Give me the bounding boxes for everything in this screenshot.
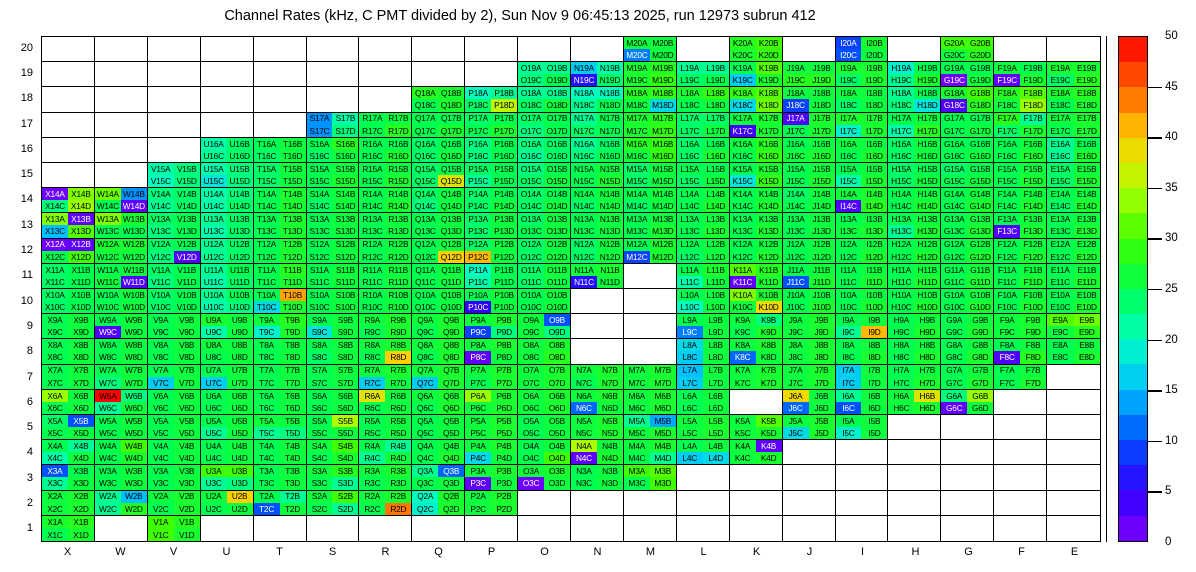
channel-I9B[interactable]: I9B [861, 314, 887, 326]
heatmap-cell-X10[interactable]: X10AX10BX10CX10D [42, 289, 95, 314]
heatmap-cell-O8[interactable]: O8AO8BO8CO8D [518, 339, 571, 364]
channel-R9B[interactable]: R9B [385, 314, 411, 326]
channel-V14A[interactable]: V14A [148, 188, 174, 200]
channel-T11C[interactable]: T11C [254, 276, 280, 288]
channel-I8C[interactable]: I8C [836, 351, 862, 363]
channel-F7D[interactable]: F7D [1020, 377, 1046, 389]
channel-G16D[interactable]: G16D [967, 150, 993, 162]
heatmap-cell-M11[interactable] [624, 264, 677, 289]
channel-H16D[interactable]: H16D [914, 150, 940, 162]
channel-P6D[interactable]: P6D [491, 402, 517, 414]
channel-G9C[interactable]: G9C [941, 326, 967, 338]
channel-R14A[interactable]: R14A [359, 188, 385, 200]
channel-R10B[interactable]: R10B [385, 289, 411, 301]
channel-O14D[interactable]: O14D [544, 200, 570, 212]
channel-M4A[interactable]: M4A [624, 440, 650, 452]
heatmap-cell-Q8[interactable]: Q8AQ8BQ8CQ8D [412, 339, 465, 364]
channel-H11A[interactable]: H11A [888, 264, 914, 276]
channel-W8D[interactable]: W8D [121, 351, 147, 363]
channel-K7A[interactable]: K7A [730, 365, 756, 377]
heatmap-cell-T1[interactable] [254, 516, 307, 541]
heatmap-cell-I14[interactable]: I14AI14BI14CI14D [836, 188, 889, 213]
channel-R15A[interactable]: R15A [359, 163, 385, 175]
channel-J6C[interactable]: J6C [783, 402, 809, 414]
channel-E10B[interactable]: E10B [1074, 289, 1100, 301]
channel-X4A[interactable]: X4A [42, 440, 68, 452]
channel-V5A[interactable]: V5A [148, 415, 174, 427]
channel-R13C[interactable]: R13C [359, 225, 385, 237]
channel-K19D[interactable]: K19D [756, 74, 782, 86]
heatmap-cell-W7[interactable]: W7AW7BW7CW7D [95, 365, 148, 390]
channel-H7A[interactable]: H7A [888, 365, 914, 377]
heatmap-cell-X18[interactable] [42, 87, 95, 112]
channel-I9D[interactable]: I9D [861, 326, 887, 338]
channel-I12B[interactable]: I12B [861, 239, 887, 251]
channel-J5B[interactable]: J5B [809, 415, 835, 427]
heatmap-cell-N11[interactable]: N11AN11BN11CN11D [571, 264, 624, 289]
channel-W6C[interactable]: W6C [95, 402, 121, 414]
channel-G15C[interactable]: G15C [941, 175, 967, 187]
channel-H9A[interactable]: H9A [888, 314, 914, 326]
channel-M5B[interactable]: M5B [650, 415, 676, 427]
channel-Q3D[interactable]: Q3D [438, 477, 464, 489]
heatmap-cell-W1[interactable] [95, 516, 148, 541]
heatmap-cell-W16[interactable] [95, 138, 148, 163]
channel-M3D[interactable]: M3D [650, 477, 676, 489]
channel-V6B[interactable]: V6B [174, 390, 200, 402]
heatmap-cell-S9[interactable]: S9AS9BS9CS9D [307, 314, 360, 339]
channel-S3A[interactable]: S3A [307, 465, 333, 477]
heatmap-cell-H7[interactable]: H7AH7BH7CH7D [888, 365, 941, 390]
channel-J9A[interactable]: J9A [783, 314, 809, 326]
channel-U5C[interactable]: U5C [201, 427, 227, 439]
heatmap-cell-W15[interactable] [95, 163, 148, 188]
channel-X2D[interactable]: X2D [68, 503, 94, 515]
channel-U13B[interactable]: U13B [227, 213, 253, 225]
channel-L11D[interactable]: L11D [703, 276, 729, 288]
heatmap-cell-X8[interactable]: X8AX8BX8CX8D [42, 339, 95, 364]
channel-U5D[interactable]: U5D [227, 427, 253, 439]
channel-R17D[interactable]: R17D [385, 125, 411, 137]
channel-Q8D[interactable]: Q8D [438, 351, 464, 363]
channel-O11D[interactable]: O11D [544, 276, 570, 288]
channel-T14D[interactable]: T14D [280, 200, 306, 212]
channel-X6C[interactable]: X6C [42, 402, 68, 414]
channel-V10C[interactable]: V10C [148, 301, 174, 313]
channel-R15B[interactable]: R15B [385, 163, 411, 175]
channel-S13D[interactable]: S13D [332, 225, 358, 237]
channel-I16D[interactable]: I16D [861, 150, 887, 162]
channel-U14B[interactable]: U14B [227, 188, 253, 200]
channel-V13A[interactable]: V13A [148, 213, 174, 225]
heatmap-cell-M4[interactable]: M4AM4BM4CM4D [624, 440, 677, 465]
heatmap-cell-W14[interactable]: W14AW14BW14CW14D [95, 188, 148, 213]
channel-L9C[interactable]: L9C [677, 326, 703, 338]
channel-E11C[interactable]: E11C [1047, 276, 1073, 288]
heatmap-cell-F5[interactable] [994, 415, 1047, 440]
heatmap-cell-K18[interactable]: K18AK18BK18CK18D [730, 87, 783, 112]
channel-U6C[interactable]: U6C [201, 402, 227, 414]
channel-G8C[interactable]: G8C [941, 351, 967, 363]
heatmap-cell-G6[interactable]: G6AG6BG6CG6D [941, 390, 994, 415]
heatmap-cell-Q3[interactable]: Q3AQ3BQ3CQ3D [412, 465, 465, 490]
channel-P3D[interactable]: P3D [491, 477, 517, 489]
heatmap-cell-H12[interactable]: H12AH12BH12CH12D [888, 239, 941, 264]
channel-L4A[interactable]: L4A [677, 440, 703, 452]
channel-M17D[interactable]: M17D [650, 125, 676, 137]
channel-N12D[interactable]: N12D [597, 251, 623, 263]
heatmap-cell-I4[interactable] [836, 440, 889, 465]
channel-V3B[interactable]: V3B [174, 465, 200, 477]
channel-O13D[interactable]: O13D [544, 225, 570, 237]
channel-H13B[interactable]: H13B [914, 213, 940, 225]
channel-U8B[interactable]: U8B [227, 339, 253, 351]
channel-X12C[interactable]: X12C [42, 251, 68, 263]
heatmap-cell-O18[interactable]: O18AO18BO18CO18D [518, 87, 571, 112]
channel-M12D[interactable]: M12D [650, 251, 676, 263]
channel-Q17C[interactable]: Q17C [412, 125, 438, 137]
channel-F15C[interactable]: F15C [994, 175, 1020, 187]
channel-H14B[interactable]: H14B [914, 188, 940, 200]
channel-Q5D[interactable]: Q5D [438, 427, 464, 439]
heatmap-cell-H11[interactable]: H11AH11BH11CH11D [888, 264, 941, 289]
channel-L13C[interactable]: L13C [677, 225, 703, 237]
channel-T8B[interactable]: T8B [280, 339, 306, 351]
channel-E11B[interactable]: E11B [1074, 264, 1100, 276]
heatmap-cell-T16[interactable]: T16AT16BT16CT16D [254, 138, 307, 163]
channel-R8D[interactable]: R8D [385, 351, 411, 363]
channel-V2D[interactable]: V2D [174, 503, 200, 515]
channel-Q15B[interactable]: Q15B [438, 163, 464, 175]
channel-H18C[interactable]: H18C [888, 99, 914, 111]
channel-W10B[interactable]: W10B [121, 289, 147, 301]
channel-K17B[interactable]: K17B [756, 113, 782, 125]
channel-X8D[interactable]: X8D [68, 351, 94, 363]
channel-P11B[interactable]: P11B [491, 264, 517, 276]
channel-I14B[interactable]: I14B [861, 188, 887, 200]
channel-Q3B[interactable]: Q3B [438, 465, 464, 477]
channel-V4C[interactable]: V4C [148, 452, 174, 464]
channel-H15C[interactable]: H15C [888, 175, 914, 187]
channel-J5D[interactable]: J5D [809, 427, 835, 439]
channel-T15D[interactable]: T15D [280, 175, 306, 187]
channel-G7C[interactable]: G7C [941, 377, 967, 389]
channel-X13B[interactable]: X13B [68, 213, 94, 225]
channel-V8C[interactable]: V8C [148, 351, 174, 363]
channel-G8B[interactable]: G8B [967, 339, 993, 351]
heatmap-cell-S8[interactable]: S8AS8BS8CS8D [307, 339, 360, 364]
channel-L8C[interactable]: L8C [677, 351, 703, 363]
heatmap-cell-I7[interactable]: I7AI7BI7CI7D [836, 365, 889, 390]
channel-S6B[interactable]: S6B [332, 390, 358, 402]
channel-I20C[interactable]: I20C [836, 49, 862, 61]
channel-F14B[interactable]: F14B [1020, 188, 1046, 200]
channel-X11C[interactable]: X11C [42, 276, 68, 288]
channel-I9A[interactable]: I9A [836, 314, 862, 326]
channel-U12B[interactable]: U12B [227, 239, 253, 251]
channel-M7B[interactable]: M7B [650, 365, 676, 377]
channel-T13B[interactable]: T13B [280, 213, 306, 225]
channel-F9D[interactable]: F9D [1020, 326, 1046, 338]
heatmap-cell-K5[interactable]: K5AK5BK5CK5D [730, 415, 783, 440]
channel-P17B[interactable]: P17B [491, 113, 517, 125]
channel-K9C[interactable]: K9C [730, 326, 756, 338]
heatmap-cell-J11[interactable]: J11AJ11BJ11CJ11D [783, 264, 836, 289]
heatmap-cell-K3[interactable] [730, 465, 783, 490]
channel-T9C[interactable]: T9C [254, 326, 280, 338]
channel-F13D[interactable]: F13D [1020, 225, 1046, 237]
channel-X7C[interactable]: X7C [42, 377, 68, 389]
channel-X7A[interactable]: X7A [42, 365, 68, 377]
channel-P9A[interactable]: P9A [465, 314, 491, 326]
channel-P10B[interactable]: P10B [491, 289, 517, 301]
channel-F19B[interactable]: F19B [1020, 62, 1046, 74]
heatmap-cell-R20[interactable] [359, 37, 412, 62]
channel-P7A[interactable]: P7A [465, 365, 491, 377]
heatmap-cell-X13[interactable]: X13AX13BX13CX13D [42, 213, 95, 238]
channel-W9B[interactable]: W9B [121, 314, 147, 326]
channel-F9A[interactable]: F9A [994, 314, 1020, 326]
channel-G14A[interactable]: G14A [941, 188, 967, 200]
channel-P13D[interactable]: P13D [491, 225, 517, 237]
channel-N19B[interactable]: N19B [597, 62, 623, 74]
channel-V9A[interactable]: V9A [148, 314, 174, 326]
channel-K16A[interactable]: K16A [730, 138, 756, 150]
heatmap-cell-P16[interactable]: P16AP16BP16CP16D [465, 138, 518, 163]
heatmap-cell-I3[interactable] [836, 465, 889, 490]
channel-U5A[interactable]: U5A [201, 415, 227, 427]
channel-S9A[interactable]: S9A [307, 314, 333, 326]
channel-Q11B[interactable]: Q11B [438, 264, 464, 276]
channel-H8B[interactable]: H8B [914, 339, 940, 351]
channel-O5C[interactable]: O5C [518, 427, 544, 439]
heatmap-cell-S4[interactable]: S4AS4BS4CS4D [307, 440, 360, 465]
channel-E10A[interactable]: E10A [1047, 289, 1073, 301]
heatmap-cell-X9[interactable]: X9AX9BX9CX9D [42, 314, 95, 339]
channel-G14B[interactable]: G14B [967, 188, 993, 200]
channel-S11A[interactable]: S11A [307, 264, 333, 276]
channel-P14C[interactable]: P14C [465, 200, 491, 212]
channel-G19A[interactable]: G19A [941, 62, 967, 74]
channel-T12A[interactable]: T12A [254, 239, 280, 251]
heatmap-cell-Q19[interactable] [412, 62, 465, 87]
heatmap-cell-H19[interactable]: H19AH19BH19CH19D [888, 62, 941, 87]
heatmap-cell-N18[interactable]: N18AN18BN18CN18D [571, 87, 624, 112]
channel-R7D[interactable]: R7D [385, 377, 411, 389]
heatmap-cell-T4[interactable]: T4AT4BT4CT4D [254, 440, 307, 465]
channel-K9D[interactable]: K9D [756, 326, 782, 338]
channel-P4B[interactable]: P4B [491, 440, 517, 452]
channel-I10C[interactable]: I10C [836, 301, 862, 313]
heatmap-cell-X2[interactable]: X2AX2BX2CX2D [42, 491, 95, 516]
channel-O17A[interactable]: O17A [518, 113, 544, 125]
channel-M7D[interactable]: M7D [650, 377, 676, 389]
heatmap-cell-V10[interactable]: V10AV10BV10CV10D [148, 289, 201, 314]
heatmap-cell-L11[interactable]: L11AL11BL11CL11D [677, 264, 730, 289]
channel-W14D[interactable]: W14D [121, 200, 147, 212]
channel-W2A[interactable]: W2A [95, 491, 121, 503]
channel-F8B[interactable]: F8B [1020, 339, 1046, 351]
channel-M18A[interactable]: M18A [624, 87, 650, 99]
channel-P13C[interactable]: P13C [465, 225, 491, 237]
heatmap-cell-E3[interactable] [1047, 465, 1100, 490]
channel-M14A[interactable]: M14A [624, 188, 650, 200]
channel-S4C[interactable]: S4C [307, 452, 333, 464]
channel-Q13D[interactable]: Q13D [438, 225, 464, 237]
heatmap-cell-H6[interactable]: H6AH6BH6CH6D [888, 390, 941, 415]
heatmap-cell-N10[interactable] [571, 289, 624, 314]
channel-P3B[interactable]: P3B [491, 465, 517, 477]
heatmap-cell-P4[interactable]: P4AP4BP4CP4D [465, 440, 518, 465]
channel-R9D[interactable]: R9D [385, 326, 411, 338]
channel-S2A[interactable]: S2A [307, 491, 333, 503]
channel-R14C[interactable]: R14C [359, 200, 385, 212]
heatmap-cell-E8[interactable]: E8AE8BE8CE8D [1047, 339, 1100, 364]
channel-W10D[interactable]: W10D [121, 301, 147, 313]
heatmap-cell-S6[interactable]: S6AS6BS6CS6D [307, 390, 360, 415]
heatmap-cell-I8[interactable]: I8AI8BI8CI8D [836, 339, 889, 364]
heatmap-cell-E1[interactable] [1047, 516, 1100, 541]
channel-L18C[interactable]: L18C [677, 99, 703, 111]
channel-Q8A[interactable]: Q8A [412, 339, 438, 351]
channel-H19C[interactable]: H19C [888, 74, 914, 86]
heatmap-cell-R4[interactable]: R4AR4BR4CR4D [359, 440, 412, 465]
channel-X3A[interactable]: X3A [42, 465, 68, 477]
channel-H13A[interactable]: H13A [888, 213, 914, 225]
heatmap-cell-N7[interactable]: N7AN7BN7CN7D [571, 365, 624, 390]
channel-G10A[interactable]: G10A [941, 289, 967, 301]
heatmap-cell-M9[interactable] [624, 314, 677, 339]
channel-Q5C[interactable]: Q5C [412, 427, 438, 439]
channel-W4D[interactable]: W4D [121, 452, 147, 464]
channel-W12D[interactable]: W12D [121, 251, 147, 263]
channel-K13C[interactable]: K13C [730, 225, 756, 237]
heatmap-cell-I5[interactable]: I5AI5BI5CI5D [836, 415, 889, 440]
channel-H8A[interactable]: H8A [888, 339, 914, 351]
channel-O16A[interactable]: O16A [518, 138, 544, 150]
channel-G20A[interactable]: G20A [941, 37, 967, 49]
channel-I17C[interactable]: I17C [836, 125, 862, 137]
channel-G12B[interactable]: G12B [967, 239, 993, 251]
channel-I7A[interactable]: I7A [836, 365, 862, 377]
heatmap-cell-J20[interactable] [783, 37, 836, 62]
heatmap-cell-O19[interactable]: O19AO19BO19CO19D [518, 62, 571, 87]
channel-E16B[interactable]: E16B [1074, 138, 1100, 150]
heatmap-cell-E15[interactable]: E15AE15BE15CE15D [1047, 163, 1100, 188]
channel-F16A[interactable]: F16A [994, 138, 1020, 150]
channel-V1D[interactable]: V1D [174, 528, 200, 541]
channel-R5B[interactable]: R5B [385, 415, 411, 427]
channel-F11B[interactable]: F11B [1020, 264, 1046, 276]
channel-X7B[interactable]: X7B [68, 365, 94, 377]
channel-P16B[interactable]: P16B [491, 138, 517, 150]
channel-J15C[interactable]: J15C [783, 175, 809, 187]
channel-V14B[interactable]: V14B [174, 188, 200, 200]
channel-N14C[interactable]: N14C [571, 200, 597, 212]
channel-K4A[interactable]: K4A [730, 440, 756, 452]
channel-G19D[interactable]: G19D [967, 74, 993, 86]
channel-H7C[interactable]: H7C [888, 377, 914, 389]
channel-O4A[interactable]: O4A [518, 440, 544, 452]
channel-U14C[interactable]: U14C [201, 200, 227, 212]
channel-F9B[interactable]: F9B [1020, 314, 1046, 326]
channel-H17C[interactable]: H17C [888, 125, 914, 137]
channel-L15C[interactable]: L15C [677, 175, 703, 187]
heatmap-cell-H9[interactable]: H9AH9BH9CH9D [888, 314, 941, 339]
channel-X1A[interactable]: X1A [42, 516, 68, 529]
heatmap-cell-F8[interactable]: F8AF8BF8CF8D [994, 339, 1047, 364]
channel-K13B[interactable]: K13B [756, 213, 782, 225]
channel-E15D[interactable]: E15D [1074, 175, 1100, 187]
channel-R8A[interactable]: R8A [359, 339, 385, 351]
channel-O11B[interactable]: O11B [544, 264, 570, 276]
heatmap-cell-U9[interactable]: U9AU9BU9CU9D [201, 314, 254, 339]
channel-L15D[interactable]: L15D [703, 175, 729, 187]
channel-V13D[interactable]: V13D [174, 225, 200, 237]
heatmap-cell-O7[interactable]: O7AO7BO7CO7D [518, 365, 571, 390]
heatmap-cell-T6[interactable]: T6AT6BT6CT6D [254, 390, 307, 415]
heatmap-cell-Q6[interactable]: Q6AQ6BQ6CQ6D [412, 390, 465, 415]
heatmap-cell-M12[interactable]: M12AM12BM12CM12D [624, 239, 677, 264]
channel-K19B[interactable]: K19B [756, 62, 782, 74]
channel-H11C[interactable]: H11C [888, 276, 914, 288]
heatmap-cell-L15[interactable]: L15AL15BL15CL15D [677, 163, 730, 188]
channel-W11D[interactable]: W11D [121, 276, 147, 288]
channel-J11C[interactable]: J11C [783, 276, 809, 288]
channel-F18B[interactable]: F18B [1020, 87, 1046, 99]
channel-J10B[interactable]: J10B [809, 289, 835, 301]
channel-H14C[interactable]: H14C [888, 200, 914, 212]
channel-E12D[interactable]: E12D [1074, 251, 1100, 263]
channel-Q4A[interactable]: Q4A [412, 440, 438, 452]
channel-O9D[interactable]: O9D [544, 326, 570, 338]
channel-Q9B[interactable]: Q9B [438, 314, 464, 326]
heatmap-cell-V15[interactable]: V15AV15BV15CV15D [148, 163, 201, 188]
channel-U6B[interactable]: U6B [227, 390, 253, 402]
channel-Q17B[interactable]: Q17B [438, 113, 464, 125]
channel-R4D[interactable]: R4D [385, 452, 411, 464]
heatmap-cell-L9[interactable]: L9AL9BL9CL9D [677, 314, 730, 339]
heatmap-cell-M1[interactable] [624, 516, 677, 541]
channel-W12A[interactable]: W12A [95, 239, 121, 251]
channel-N7D[interactable]: N7D [597, 377, 623, 389]
heatmap-cell-F19[interactable]: F19AF19BF19CF19D [994, 62, 1047, 87]
channel-T13A[interactable]: T13A [254, 213, 280, 225]
channel-H7D[interactable]: H7D [914, 377, 940, 389]
channel-I10D[interactable]: I10D [861, 301, 887, 313]
channel-S2C[interactable]: S2C [307, 503, 333, 515]
heatmap-cell-X14[interactable]: X14AX14BX14CX14D [42, 188, 95, 213]
channel-K10D[interactable]: K10D [756, 301, 782, 313]
channel-O12D[interactable]: O12D [544, 251, 570, 263]
channel-T4A[interactable]: T4A [254, 440, 280, 452]
channel-L4D[interactable]: L4D [703, 452, 729, 464]
heatmap-cell-G2[interactable] [941, 491, 994, 516]
channel-K4B[interactable]: K4B [756, 440, 782, 452]
channel-V5D[interactable]: V5D [174, 427, 200, 439]
channel-Q6A[interactable]: Q6A [412, 390, 438, 402]
channel-V7D[interactable]: V7D [174, 377, 200, 389]
heatmap-cell-G14[interactable]: G14AG14BG14CG14D [941, 188, 994, 213]
channel-I7C[interactable]: I7C [836, 377, 862, 389]
channel-L9D[interactable]: L9D [703, 326, 729, 338]
channel-P17D[interactable]: P17D [491, 125, 517, 137]
heatmap-cell-U15[interactable]: U15AU15BU15CU15D [201, 163, 254, 188]
heatmap-cell-J12[interactable]: J12AJ12BJ12CJ12D [783, 239, 836, 264]
channel-I12A[interactable]: I12A [836, 239, 862, 251]
channel-H17B[interactable]: H17B [914, 113, 940, 125]
channel-M20A[interactable]: M20A [624, 37, 650, 49]
